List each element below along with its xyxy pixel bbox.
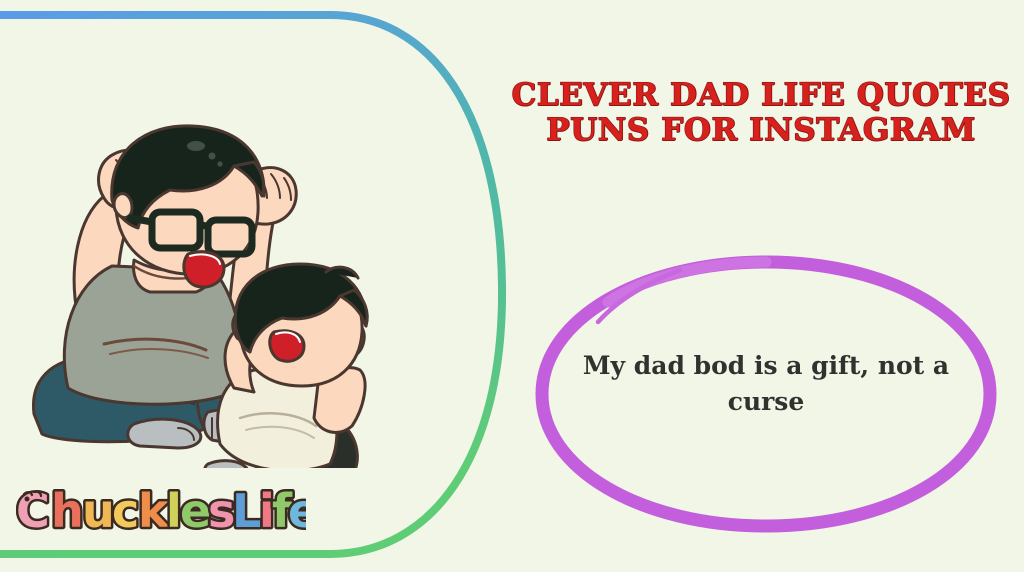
dad-ear [114,194,132,218]
cartoon-dad-and-child-illustration [8,88,408,468]
child-mouth [270,331,304,361]
svg-text:L: L [232,484,261,538]
chuckleslife-logo[interactable]: C h u c k l e s L i f e [16,482,306,540]
quote-text: My dad bod is a gift, not a curse [576,348,956,419]
svg-text:c: c [112,484,139,538]
svg-text:C: C [16,484,50,538]
svg-text:e: e [288,484,306,538]
svg-text:e: e [180,484,211,538]
poster-canvas: CLEVER DAD LIFE QUOTES PUNS FOR INSTAGRA… [0,0,1024,572]
svg-text:h: h [51,484,84,538]
svg-text:u: u [82,484,115,538]
quote-callout: My dad bod is a gift, not a curse [520,248,1012,540]
page-title: CLEVER DAD LIFE QUOTES PUNS FOR INSTAGRA… [505,78,1017,148]
dad-shoe-left [128,419,201,448]
